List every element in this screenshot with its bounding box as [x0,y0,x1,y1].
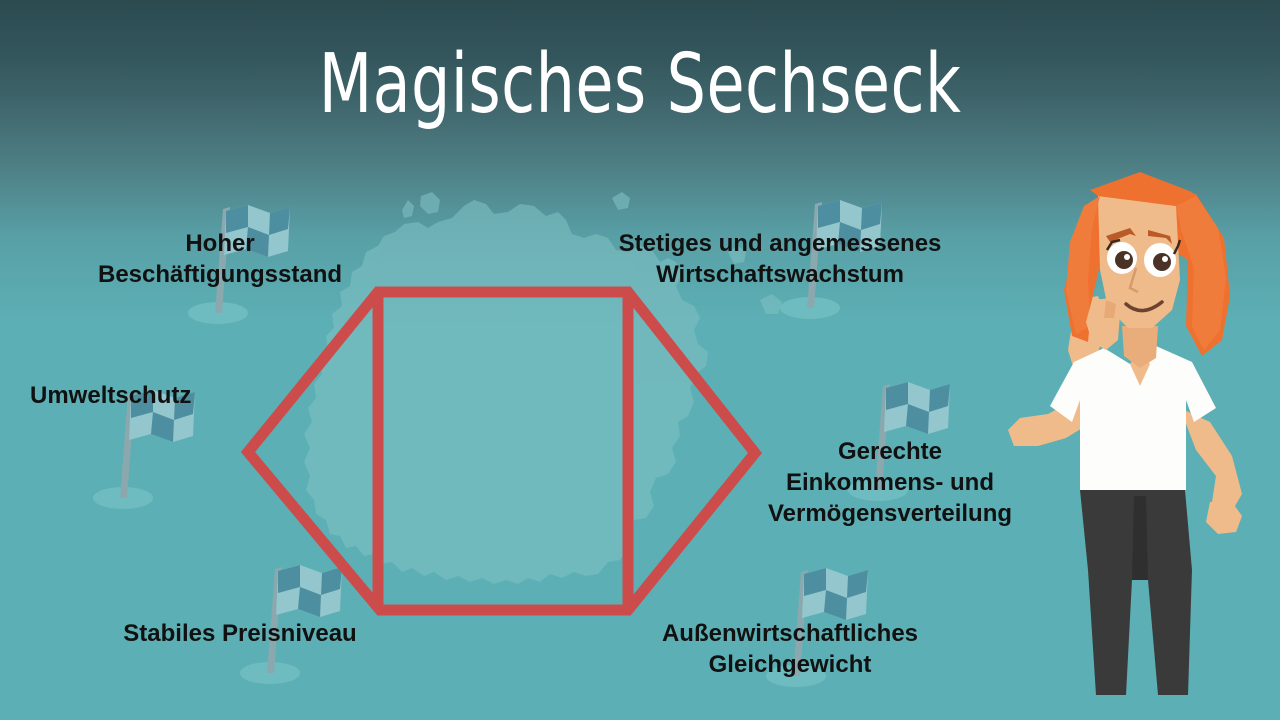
goal-label-trade: Außenwirtschaftliches Gleichgewicht [620,618,960,680]
page-title: Magisches Sechseck [102,44,1177,126]
slide-canvas: Magisches Sechseck Hoher Beschäftigungss… [0,0,1280,720]
goal-label-environment: Umweltschutz [30,380,290,411]
goal-label-prices: Stabiles Preisniveau [80,618,400,649]
woman-thinking-character-icon [980,150,1280,720]
goal-label-growth: Stetiges und angemessenes Wirtschaftswac… [570,228,990,290]
goal-label-employment: Hoher Beschäftigungsstand [60,228,380,290]
